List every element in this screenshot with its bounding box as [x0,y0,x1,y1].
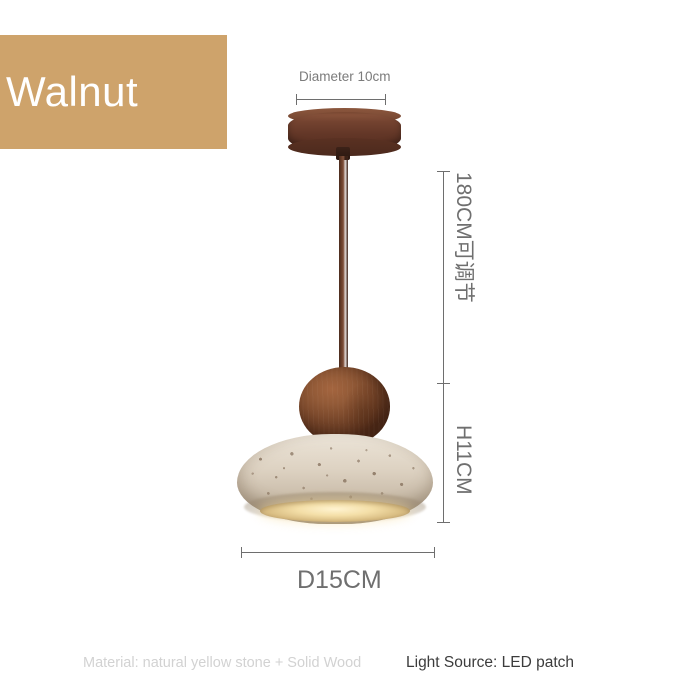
product-spec-image: Walnut Diameter 10cm 180CM可调节 H11CM D15C… [0,0,700,700]
light-source-caption: Light Source: LED patch [406,654,574,672]
drop-height-label: 180CM可调节 [453,172,474,303]
shade-diameter-line [241,552,435,553]
canopy-diameter-cap-right [385,94,386,105]
shade-diameter-label: D15CM [297,568,382,593]
drop-height-line [443,171,444,383]
shade-height-label: H11CM [453,425,474,495]
suspension-rod [339,156,348,382]
shade-height-cap-bottom [437,522,450,523]
canopy-diameter-line [296,99,386,100]
led-glow [260,500,410,522]
color-variant-label: Walnut [0,71,138,113]
shade-diameter-cap-left [241,547,242,558]
material-caption: Material: natural yellow stone + Solid W… [83,655,361,671]
shade-height-line [443,383,444,522]
canopy-diameter-cap-left [296,94,297,105]
canopy-diameter-label: Diameter 10cm [299,70,391,84]
drop-height-cap-top [437,171,450,172]
color-variant-banner: Walnut [0,35,227,149]
shade-diameter-cap-right [434,547,435,558]
